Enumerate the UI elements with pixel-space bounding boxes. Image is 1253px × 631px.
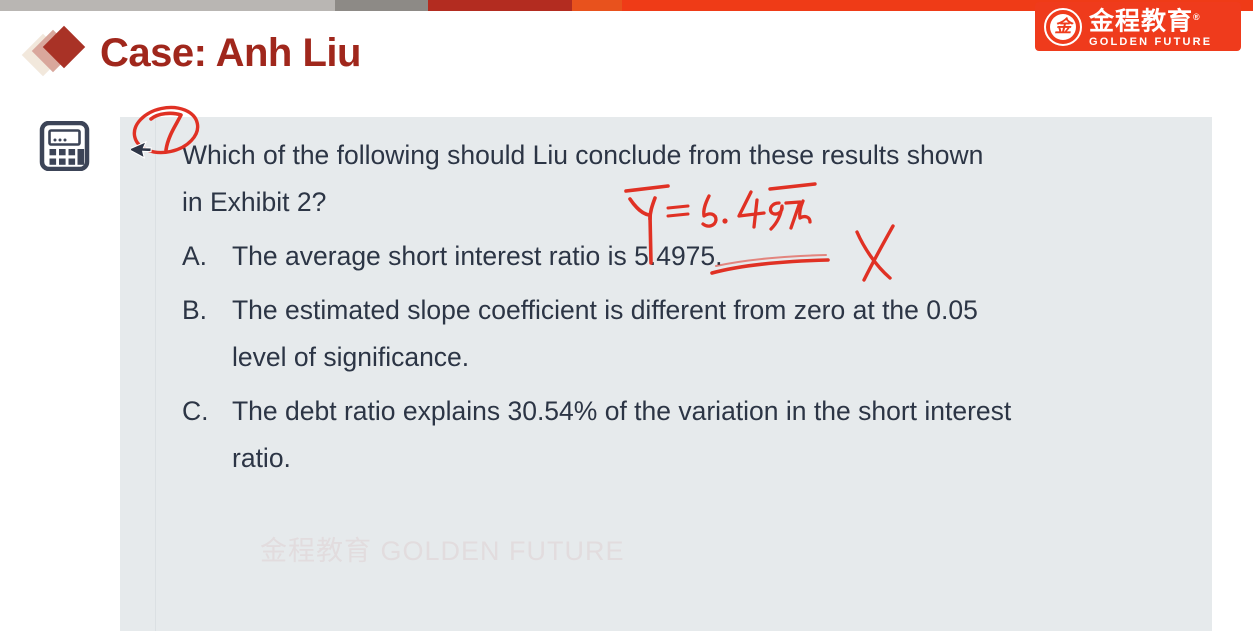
watermark-text: 金程教育 GOLDEN FUTURE	[260, 529, 625, 568]
option-b-line-1: The estimated slope coefficient is diffe…	[232, 295, 978, 325]
brand-name-cn-text: 金程教育	[1089, 8, 1193, 36]
brand-seal-glyph: 金	[1055, 18, 1072, 35]
top-bar-segment-3	[428, 0, 572, 11]
top-bar-segment-1	[0, 0, 335, 11]
option-b-line-2: level of significance.	[232, 334, 1200, 381]
brand-logo-text: 金程教育® GOLDEN FUTURE	[1089, 4, 1212, 48]
mouse-pointer-icon	[131, 135, 153, 161]
diamond-bullet-icon	[28, 26, 100, 80]
brand-name-cn: 金程教育®	[1089, 4, 1212, 35]
panel-divider	[155, 117, 156, 631]
option-c-text: The debt ratio explains 30.54% of the va…	[232, 388, 1200, 482]
page-title-text: Case: Anh Liu	[100, 33, 361, 73]
question-line-2: in Exhibit 2?	[182, 179, 1200, 226]
content-panel: 金程教育 GOLDEN FUTURE Which of the followin…	[120, 117, 1212, 631]
option-a-letter: A.	[182, 233, 232, 280]
answer-option-list: A. The average short interest ratio is 5…	[182, 233, 1200, 482]
brand-registered-mark: ®	[1193, 12, 1201, 22]
option-a-line-1: The average short interest ratio is 5.49…	[232, 233, 1200, 280]
calculator-icon	[38, 121, 91, 171]
answer-option-b[interactable]: B. The estimated slope coefficient is di…	[182, 287, 1200, 381]
brand-logo: 金 金程教育® GOLDEN FUTURE	[1035, 2, 1241, 51]
top-bar-segment-2	[335, 0, 428, 11]
brand-name-en: GOLDEN FUTURE	[1089, 36, 1212, 49]
answer-option-c[interactable]: C. The debt ratio explains 30.54% of the…	[182, 388, 1200, 482]
brand-seal-icon: 金	[1044, 8, 1082, 46]
option-c-line-2: ratio.	[232, 435, 1200, 482]
option-c-line-1: The debt ratio explains 30.54% of the va…	[232, 396, 1011, 426]
top-bar-segment-4	[572, 0, 622, 11]
slide-page: 金 金程教育® GOLDEN FUTURE Case: Anh Liu	[0, 0, 1253, 631]
option-a-text: The average short interest ratio is 5.49…	[232, 233, 1200, 280]
option-c-letter: C.	[182, 388, 232, 482]
page-title: Case: Anh Liu	[28, 22, 361, 84]
option-b-text: The estimated slope coefficient is diffe…	[232, 287, 1200, 381]
question-line-1: Which of the following should Liu conclu…	[182, 132, 1200, 179]
answer-option-a[interactable]: A. The average short interest ratio is 5…	[182, 233, 1200, 280]
option-b-letter: B.	[182, 287, 232, 381]
question-block: Which of the following should Liu conclu…	[182, 132, 1200, 489]
